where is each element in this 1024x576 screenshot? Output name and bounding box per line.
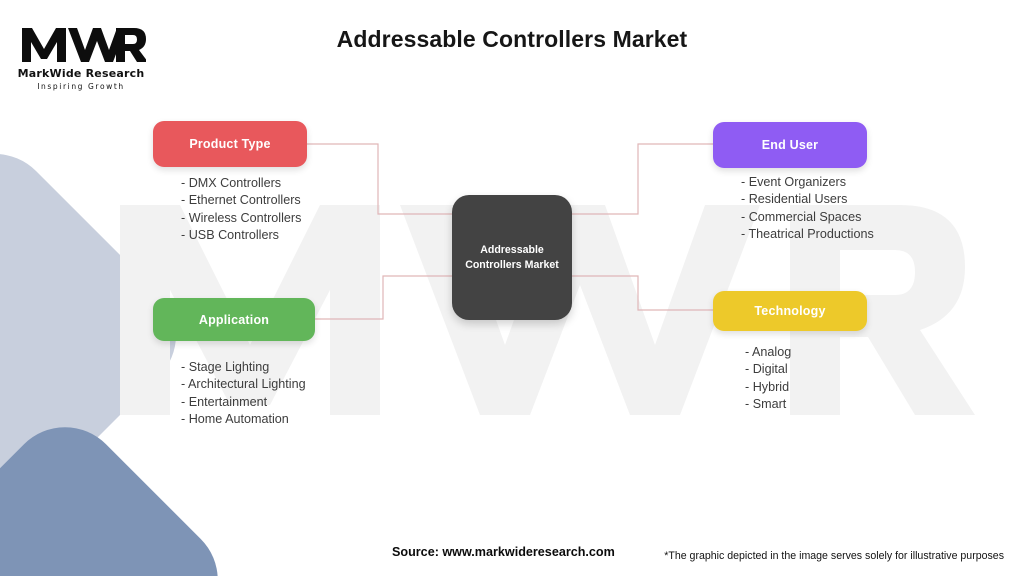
item-list-application: - Stage Lighting - Architectural Lightin…: [181, 359, 306, 428]
list-item: - DMX Controllers: [181, 175, 301, 192]
list-item: - USB Controllers: [181, 227, 301, 244]
category-box-application[interactable]: Application: [153, 298, 315, 341]
list-item: - Wireless Controllers: [181, 210, 301, 227]
list-item: - Analog: [745, 344, 791, 361]
list-item: - Home Automation: [181, 411, 306, 428]
list-item: - Theatrical Productions: [741, 226, 874, 243]
category-label-technology: Technology: [754, 304, 825, 318]
list-item: - Architectural Lighting: [181, 376, 306, 393]
list-item: - Residential Users: [741, 191, 874, 208]
connector-application: [315, 276, 452, 319]
list-item: - Stage Lighting: [181, 359, 306, 376]
list-item: - Hybrid: [745, 379, 791, 396]
category-box-end-user[interactable]: End User: [713, 122, 867, 168]
list-item: - Digital: [745, 361, 791, 378]
center-node-line-1: Addressable: [480, 243, 544, 258]
category-label-application: Application: [199, 313, 269, 327]
logo-company-name: MarkWide Research: [16, 67, 146, 80]
diagram-canvas: MarkWide Research Inspiring Growth Addre…: [0, 0, 1024, 576]
connector-end-user: [572, 144, 713, 214]
list-item: - Smart: [745, 396, 791, 413]
category-label-product-type: Product Type: [189, 137, 270, 151]
logo-tagline: Inspiring Growth: [16, 82, 146, 91]
center-node-line-2: Controllers Market: [465, 258, 559, 273]
category-box-product-type[interactable]: Product Type: [153, 121, 307, 167]
category-box-technology[interactable]: Technology: [713, 291, 867, 331]
item-list-product-type: - DMX Controllers - Ethernet Controllers…: [181, 175, 301, 244]
connector-product-type: [307, 144, 452, 214]
list-item: - Ethernet Controllers: [181, 192, 301, 209]
center-node[interactable]: Addressable Controllers Market: [452, 195, 572, 320]
item-list-technology: - Analog - Digital - Hybrid - Smart: [745, 344, 791, 413]
footer-source: Source: www.markwideresearch.com: [392, 545, 615, 559]
item-list-end-user: - Event Organizers - Residential Users -…: [741, 174, 874, 243]
footer-disclaimer: *The graphic depicted in the image serve…: [664, 550, 1004, 562]
list-item: - Entertainment: [181, 394, 306, 411]
list-item: - Event Organizers: [741, 174, 874, 191]
list-item: - Commercial Spaces: [741, 209, 874, 226]
category-label-end-user: End User: [762, 138, 818, 152]
page-title: Addressable Controllers Market: [0, 26, 1024, 53]
connector-technology: [572, 276, 713, 310]
